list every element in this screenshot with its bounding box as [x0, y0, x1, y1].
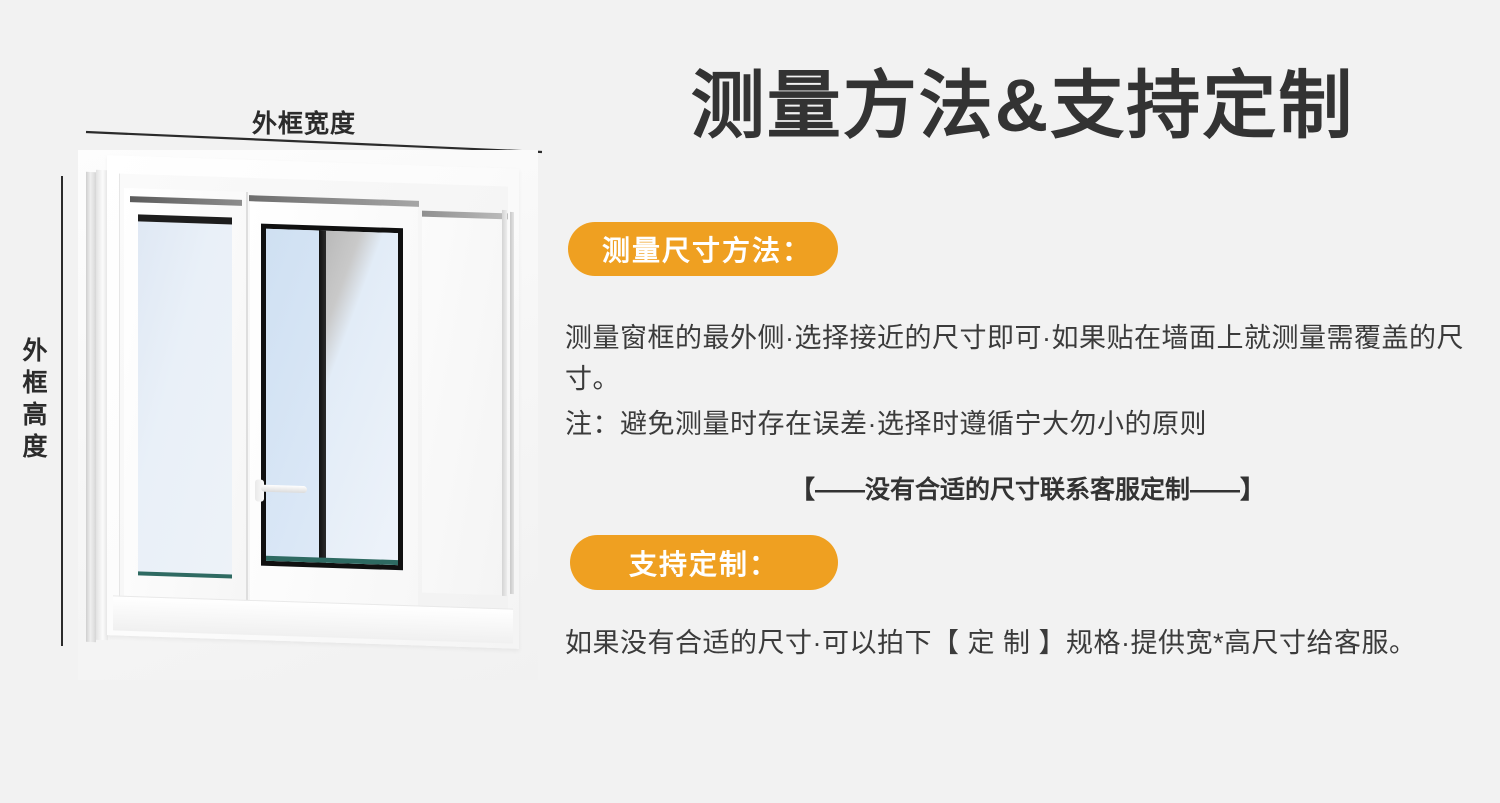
height-label-char-2: 框	[18, 367, 52, 399]
glass-pane-left	[266, 229, 319, 563]
window-sash-left	[124, 188, 248, 600]
page-title: 测量方法&支持定制	[565, 62, 1480, 150]
window-frame-right-edge-outer	[510, 212, 514, 594]
window-jamb-outer-edge	[86, 172, 96, 642]
window-sash-center	[250, 197, 418, 607]
badge-measure-method: 测量尺寸方法：	[568, 222, 838, 276]
sash-left-glass	[138, 214, 232, 578]
glass-pane-right	[326, 231, 398, 565]
window-frame-right-edge	[502, 210, 507, 596]
height-label-char-3: 高	[18, 399, 52, 431]
height-label-char-4: 度	[18, 431, 52, 463]
outer-frame-height-label: 外 框 高 度	[18, 335, 52, 463]
customization-instruction-text: 如果没有合适的尺寸·可以拍下【 定 制 】规格·提供宽*高尺寸给客服。	[565, 623, 1490, 664]
measure-note-text: 注：避免测量时存在误差·选择时遵循宁大勿小的原则	[565, 404, 1490, 445]
height-label-char-1: 外	[18, 335, 52, 367]
promo-page: 外框宽度 外 框 高 度	[0, 0, 1500, 803]
sash-center-glass	[261, 224, 403, 571]
window-product-image	[78, 150, 538, 680]
height-dimension-line	[61, 176, 63, 646]
window-sash-right	[422, 211, 508, 596]
window-handle-lever	[261, 485, 307, 494]
measure-instruction-text: 测量窗框的最外侧·选择接近的尺寸即可·如果贴在墙面上就测量需覆盖的尺寸。	[565, 318, 1490, 400]
content-panel: 测量方法&支持定制 测量尺寸方法： 测量窗框的最外侧·选择接近的尺寸即可·如果贴…	[545, 0, 1500, 803]
sash-left-top-rail	[130, 196, 242, 206]
contact-service-callout: 【——没有合适的尺寸联系客服定制——】	[565, 470, 1490, 511]
glass-pane-divider	[319, 230, 326, 562]
window-illustration: 外框宽度 外 框 高 度	[0, 0, 545, 803]
badge-support-customization: 支持定制：	[570, 535, 838, 590]
